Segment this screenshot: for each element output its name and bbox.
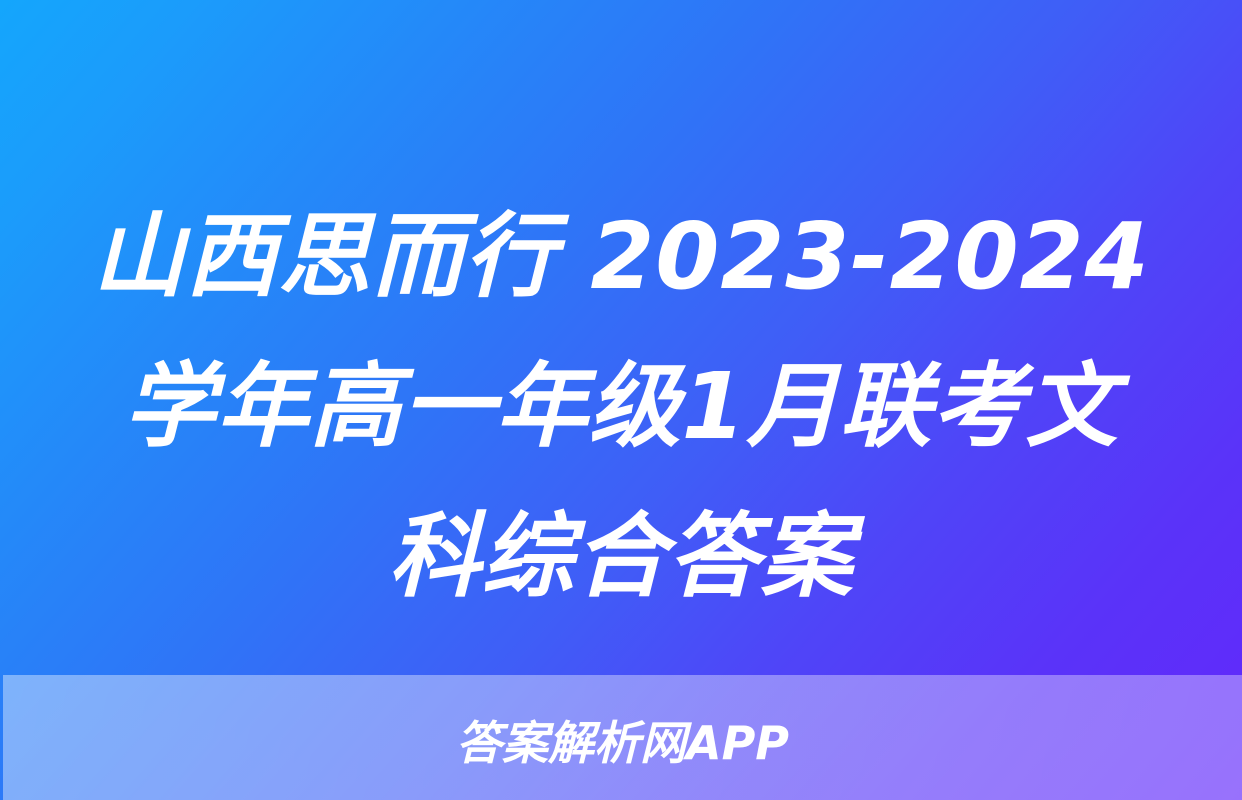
page-title-line-1: 山西思而行 2023-2024 bbox=[0, 182, 1242, 332]
app-watermark-label: 答案解析网APP bbox=[456, 707, 789, 773]
page-title-line-2: 学年高一年级1月联考文 bbox=[0, 332, 1242, 482]
page-title-line-3: 科综合答案 bbox=[0, 482, 1242, 632]
watermark-band: 答案解析网APP bbox=[3, 675, 1242, 800]
page-title: 山西思而行 2023-2024 学年高一年级1月联考文 科综合答案 bbox=[0, 182, 1242, 632]
poster-canvas: 山西思而行 2023-2024 学年高一年级1月联考文 科综合答案 答案解析网A… bbox=[0, 0, 1242, 800]
